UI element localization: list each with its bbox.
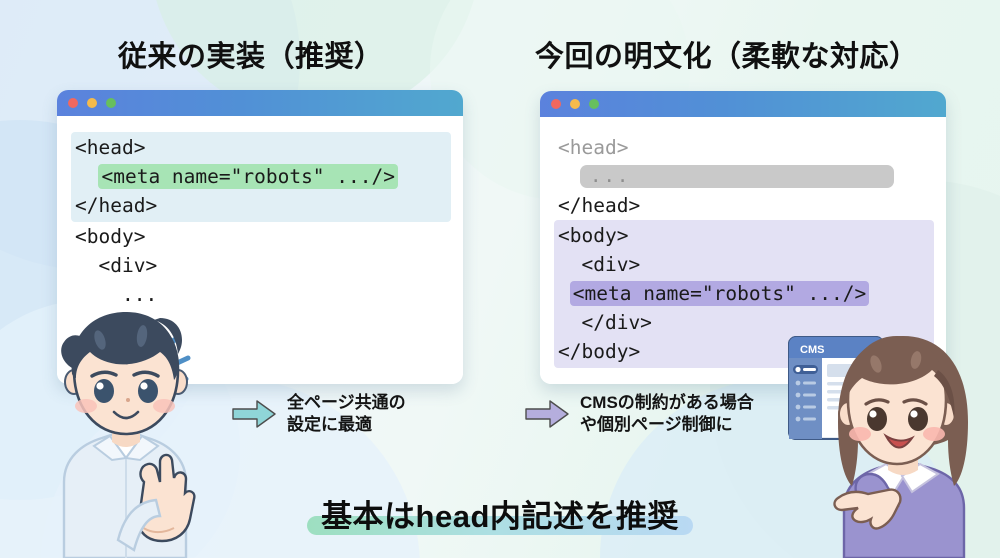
code-token: <div> [98, 254, 157, 277]
code-token: <div> [581, 253, 640, 276]
left-caption-text: 全ページ共通の 設定に最適 [287, 392, 406, 436]
left-head-block: <head> <meta name="robots" .../> </head> [71, 132, 451, 222]
left-panel-title: 従来の実装（推奨） [118, 33, 384, 75]
left-window-titlebar [57, 90, 463, 116]
boy-eye-left [94, 379, 114, 403]
right-caption-group: CMSの制約がある場合 や個別ページ制御に [524, 392, 754, 436]
banner-text: 基本はhead内記述を推奨 [321, 499, 679, 534]
right-caption-text: CMSの制約がある場合 や個別ページ制御に [580, 392, 754, 436]
code-line: <body> [558, 221, 930, 250]
window-maximize-dot[interactable] [106, 98, 116, 108]
meta-robots-highlight: <meta name="robots" .../> [570, 281, 870, 306]
code-line: <body> [75, 222, 451, 251]
code-line: <div> [75, 251, 451, 280]
window-minimize-dot[interactable] [570, 99, 580, 109]
window-close-dot[interactable] [551, 99, 561, 109]
code-line: <meta name="robots" .../> [558, 279, 930, 308]
girl-eye-right [908, 407, 928, 431]
code-line: </head> [558, 191, 934, 220]
code-line: </head> [75, 191, 447, 220]
window-close-dot[interactable] [68, 98, 78, 108]
right-panel-title: 今回の明文化（柔軟な対応） [535, 33, 919, 75]
right-window-titlebar [540, 91, 946, 117]
window-maximize-dot[interactable] [589, 99, 599, 109]
code-line: <meta name="robots" .../> [75, 162, 447, 191]
code-line: <head> [75, 133, 447, 162]
arrow-right-icon [231, 399, 277, 429]
code-token: </div> [581, 311, 651, 334]
bottom-banner: 基本はhead内記述を推奨 [0, 491, 1000, 536]
window-minimize-dot[interactable] [87, 98, 97, 108]
arrow-right-icon [524, 399, 570, 429]
collapsed-head-content-bar: ... [580, 165, 894, 188]
left-caption-group: 全ページ共通の 設定に最適 [231, 392, 406, 436]
girl-eye-left [867, 407, 887, 431]
code-line: <head> [558, 133, 934, 162]
meta-robots-highlight: <meta name="robots" .../> [98, 164, 398, 189]
code-line: <div> [558, 250, 930, 279]
boy-eye-right [138, 379, 158, 403]
